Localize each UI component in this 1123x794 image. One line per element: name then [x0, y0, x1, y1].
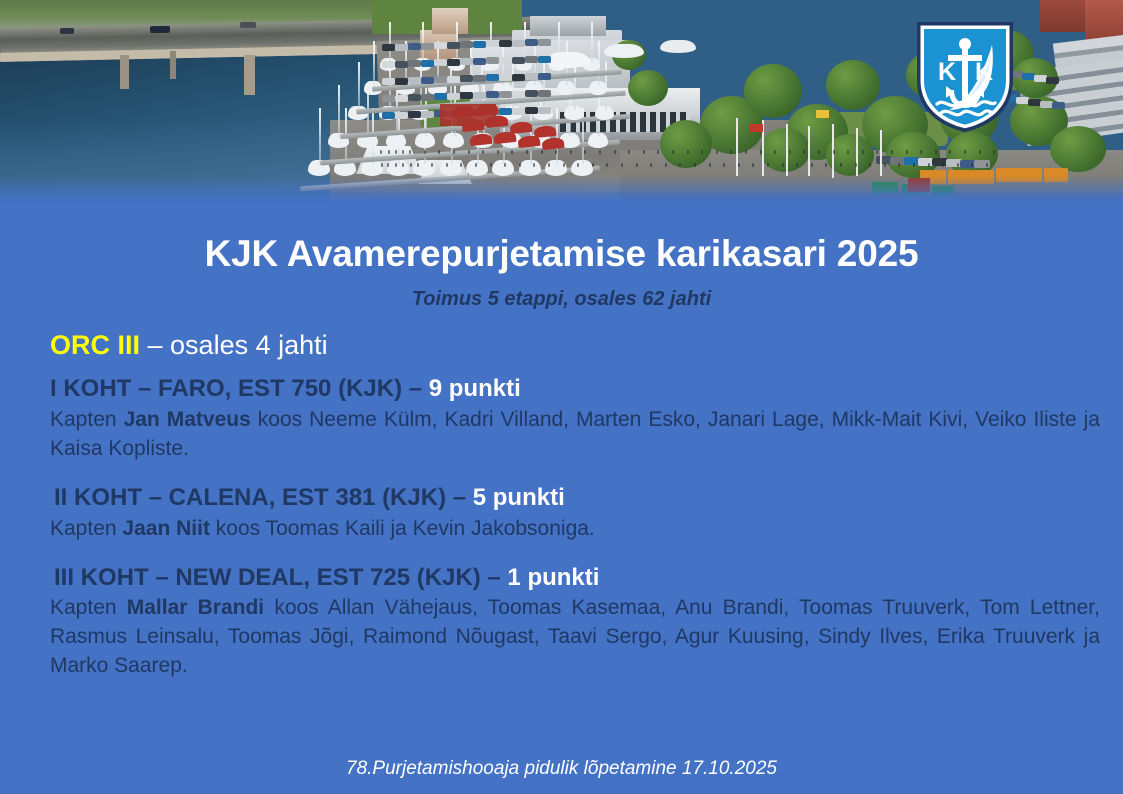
photo-person	[986, 163, 988, 167]
crew-list: Kapten Mallar Brandi koos Allan Vähejaus…	[50, 594, 1100, 681]
photo-parked-car	[473, 41, 486, 48]
photo-person	[818, 150, 820, 154]
photo-parked-car	[421, 111, 434, 118]
photo-person	[767, 163, 769, 167]
class-label: ORC III	[50, 330, 140, 360]
photo-person	[643, 150, 645, 154]
photo-tree	[660, 120, 712, 168]
photo-parked-car	[473, 92, 486, 99]
photo-motor-yacht	[546, 52, 590, 68]
photo-mast	[319, 108, 321, 164]
photo-person	[541, 150, 543, 154]
result-heading: II KOHT – CALENA, EST 381 (KJK) – 5 punk…	[54, 484, 1100, 513]
photo-person	[665, 163, 667, 167]
photo-parked-car	[382, 61, 395, 68]
result-points: 5 punkti	[473, 484, 565, 511]
logo-letter-right: K	[975, 58, 993, 86]
crew-prefix: Kapten	[50, 408, 124, 431]
photo-parked-car	[421, 77, 434, 84]
logo-letter-left: K	[938, 58, 956, 86]
photo-person	[796, 163, 798, 167]
result-place-boat: I KOHT – FARO, EST 750 (KJK) –	[50, 375, 429, 402]
result-block: II KOHT – CALENA, EST 381 (KJK) – 5 punk…	[50, 484, 1100, 544]
photo-mast	[389, 22, 391, 62]
photo-person	[723, 163, 725, 167]
photo-person	[738, 163, 740, 167]
photo-person	[935, 150, 937, 154]
photo-parked-car	[408, 60, 421, 67]
photo-parked-car	[382, 78, 395, 85]
photo-person	[869, 163, 871, 167]
kjk-shield-logo: K K	[913, 18, 1017, 136]
presentation-slide: K K KJK Avamerepurjetamise karikasari 20…	[0, 0, 1123, 794]
photo-parked-car	[460, 92, 473, 99]
photo-parked-car	[538, 39, 551, 46]
photo-person	[380, 150, 382, 154]
photo-bridge-pier	[244, 55, 255, 95]
photo-parked-car	[538, 107, 551, 114]
captain-name: Jan Matveus	[124, 408, 251, 431]
photo-person	[979, 150, 981, 154]
photo-motor-yacht	[604, 44, 644, 58]
photo-mast	[358, 62, 360, 110]
photo-person	[745, 150, 747, 154]
photo-parked-car	[486, 57, 499, 64]
photo-parked-car	[447, 76, 460, 83]
photo-mast	[338, 85, 340, 137]
photo-person	[628, 150, 630, 154]
crew-prefix: Kapten	[50, 517, 122, 540]
photo-parked-car	[421, 60, 434, 67]
photo-person	[789, 150, 791, 154]
photo-person	[993, 150, 995, 154]
photo-person	[614, 150, 616, 154]
result-block: I KOHT – FARO, EST 750 (KJK) – 9 punkti …	[50, 375, 1100, 464]
photo-parked-car	[486, 91, 499, 98]
result-heading: III KOHT – NEW DEAL, EST 725 (KJK) – 1 p…	[54, 564, 1100, 593]
photo-person	[555, 150, 557, 154]
photo-parked-car	[512, 57, 525, 64]
photo-parked-car	[512, 108, 525, 115]
photo-person	[417, 163, 419, 167]
photo-mast	[591, 22, 593, 62]
photo-motor-yacht	[660, 40, 696, 53]
photo-mast	[556, 108, 558, 164]
photo-parked-car	[499, 74, 512, 81]
photo-bridge-pier	[120, 55, 129, 89]
photo-parked-car	[525, 56, 538, 63]
photo-person	[592, 163, 594, 167]
photo-parked-car	[408, 111, 421, 118]
crew-members: koos Toomas Kaili ja Kevin Jakobsoniga.	[210, 517, 595, 540]
photo-parked-car	[486, 40, 499, 47]
photo-person	[694, 163, 696, 167]
photo-parked-car	[395, 44, 408, 51]
photo-person	[906, 150, 908, 154]
photo-person	[577, 163, 579, 167]
crew-list: Kapten Jaan Niit koos Toomas Kaili ja Ke…	[50, 515, 1100, 544]
photo-parked-car	[499, 57, 512, 64]
photo-building	[432, 8, 468, 34]
photo-person	[920, 150, 922, 154]
photo-person	[957, 163, 959, 167]
class-heading: ORC III – osales 4 jahti	[50, 330, 1100, 361]
photo-mast	[543, 62, 545, 110]
photo-umbrella	[469, 133, 492, 146]
photo-mast	[373, 41, 375, 85]
result-place-boat: II KOHT – CALENA, EST 381 (KJK) –	[54, 484, 473, 511]
photo-person	[891, 150, 893, 154]
photo-person	[760, 150, 762, 154]
crew-prefix: Kapten	[50, 596, 127, 619]
photo-person	[636, 163, 638, 167]
photo-person	[782, 163, 784, 167]
photo-person	[431, 163, 433, 167]
photo-person	[847, 150, 849, 154]
photo-parked-car	[1052, 102, 1065, 109]
photo-parked-car	[460, 75, 473, 82]
photo-tree	[744, 64, 802, 118]
result-points: 1 punkti	[507, 564, 599, 591]
photo-person	[884, 163, 886, 167]
photo-person	[446, 163, 448, 167]
photo-person	[519, 163, 521, 167]
photo-parked-car	[1046, 77, 1059, 84]
photo-parked-car	[512, 74, 525, 81]
photo-parked-car	[434, 93, 447, 100]
photo-umbrella	[493, 131, 516, 144]
photo-parked-car	[512, 40, 525, 47]
photo-person	[482, 150, 484, 154]
photo-flagpole	[856, 128, 858, 176]
photo-parked-car	[538, 90, 551, 97]
result-heading: I KOHT – FARO, EST 750 (KJK) – 9 punkti	[50, 375, 1100, 404]
photo-person	[913, 163, 915, 167]
photo-parked-car	[499, 40, 512, 47]
photo-person	[475, 163, 477, 167]
photo-person	[862, 150, 864, 154]
photo-person	[687, 150, 689, 154]
photo-parked-car	[408, 94, 421, 101]
photo-tree	[628, 70, 668, 106]
photo-person	[402, 163, 404, 167]
photo-parked-car	[447, 42, 460, 49]
photo-bridge-pier	[170, 51, 176, 79]
photo-flagpole	[736, 118, 738, 176]
photo-parked-car	[525, 73, 538, 80]
photo-person	[774, 150, 776, 154]
photo-flag	[816, 110, 829, 118]
photo-parked-car	[512, 91, 525, 98]
photo-parked-car	[421, 94, 434, 101]
photo-person	[381, 163, 383, 167]
photo-parked-car	[382, 95, 395, 102]
photo-person	[833, 150, 835, 154]
photo-flagpole	[808, 126, 810, 176]
photo-flagpole	[880, 130, 882, 176]
photo-parked-car	[434, 76, 447, 83]
photo-parked-car	[421, 43, 434, 50]
photo-parked-car	[382, 44, 395, 51]
photo-person	[497, 150, 499, 154]
photo-parked-car	[499, 108, 512, 115]
result-place-boat: III KOHT – NEW DEAL, EST 725 (KJK) –	[54, 564, 507, 591]
photo-person	[942, 163, 944, 167]
photo-parked-car	[473, 58, 486, 65]
photo-person	[709, 163, 711, 167]
photo-parked-car	[473, 75, 486, 82]
photo-person	[811, 163, 813, 167]
crew-list: Kapten Jan Matveus koos Neeme Külm, Kadr…	[50, 406, 1100, 464]
photo-person	[490, 163, 492, 167]
photo-flagpole	[786, 124, 788, 176]
photo-tree	[1050, 126, 1106, 172]
photo-parked-car	[447, 93, 460, 100]
photo-bottom-fade	[0, 176, 1123, 206]
photo-parked-car	[408, 77, 421, 84]
photo-car	[240, 22, 256, 28]
photo-person	[468, 150, 470, 154]
result-points: 9 punkti	[429, 375, 521, 402]
photo-parked-car	[525, 90, 538, 97]
photo-person	[964, 150, 966, 154]
photo-person	[563, 163, 565, 167]
photo-person	[395, 163, 397, 167]
photo-person	[526, 150, 528, 154]
photo-parked-car	[538, 56, 551, 63]
photo-umbrella	[541, 137, 564, 150]
photo-person	[855, 163, 857, 167]
captain-name: Mallar Brandi	[127, 596, 264, 619]
photo-parked-car	[434, 59, 447, 66]
photo-car	[60, 28, 74, 34]
page-subtitle: Toimus 5 etappi, osales 62 jahti	[0, 288, 1123, 311]
photo-person	[548, 163, 550, 167]
photo-person	[424, 150, 426, 154]
photo-flag	[750, 124, 763, 132]
photo-person	[840, 163, 842, 167]
photo-parked-car	[460, 58, 473, 65]
photo-person	[928, 163, 930, 167]
photo-person	[388, 150, 390, 154]
photo-parked-car	[499, 91, 512, 98]
photo-parked-car	[395, 95, 408, 102]
photo-parked-car	[447, 59, 460, 66]
class-detail: – osales 4 jahti	[140, 330, 328, 360]
photo-person	[650, 163, 652, 167]
photo-terrace	[440, 104, 496, 126]
photo-person	[701, 150, 703, 154]
photo-person	[570, 150, 572, 154]
photo-parked-car	[382, 112, 395, 119]
photo-parked-car	[395, 61, 408, 68]
photo-person	[453, 150, 455, 154]
photo-car	[150, 26, 170, 33]
photo-parked-car	[525, 107, 538, 114]
photo-parked-car	[395, 112, 408, 119]
photo-person	[410, 163, 412, 167]
slide-footer: 78.Purjetamishooaja pidulik lõpetamine 1…	[0, 758, 1123, 780]
photo-person	[504, 163, 506, 167]
captain-name: Jaan Niit	[122, 517, 210, 540]
photo-parked-car	[408, 43, 421, 50]
photo-parked-car	[525, 39, 538, 46]
photo-person	[395, 150, 397, 154]
photo-person	[672, 150, 674, 154]
photo-umbrella	[517, 135, 540, 148]
results-content: ORC III – osales 4 jahti I KOHT – FARO, …	[50, 330, 1100, 701]
photo-person	[409, 150, 411, 154]
photo-parked-car	[395, 78, 408, 85]
photo-clubhouse-upper	[530, 16, 606, 36]
photo-person	[716, 150, 718, 154]
photo-parked-car	[434, 42, 447, 49]
photo-person	[599, 150, 601, 154]
page-title: KJK Avamerepurjetamise karikasari 2025	[0, 233, 1123, 275]
photo-parked-car	[538, 73, 551, 80]
photo-parked-car	[486, 74, 499, 81]
photo-person	[621, 163, 623, 167]
photo-parked-car	[460, 41, 473, 48]
result-block: III KOHT – NEW DEAL, EST 725 (KJK) – 1 p…	[50, 564, 1100, 682]
